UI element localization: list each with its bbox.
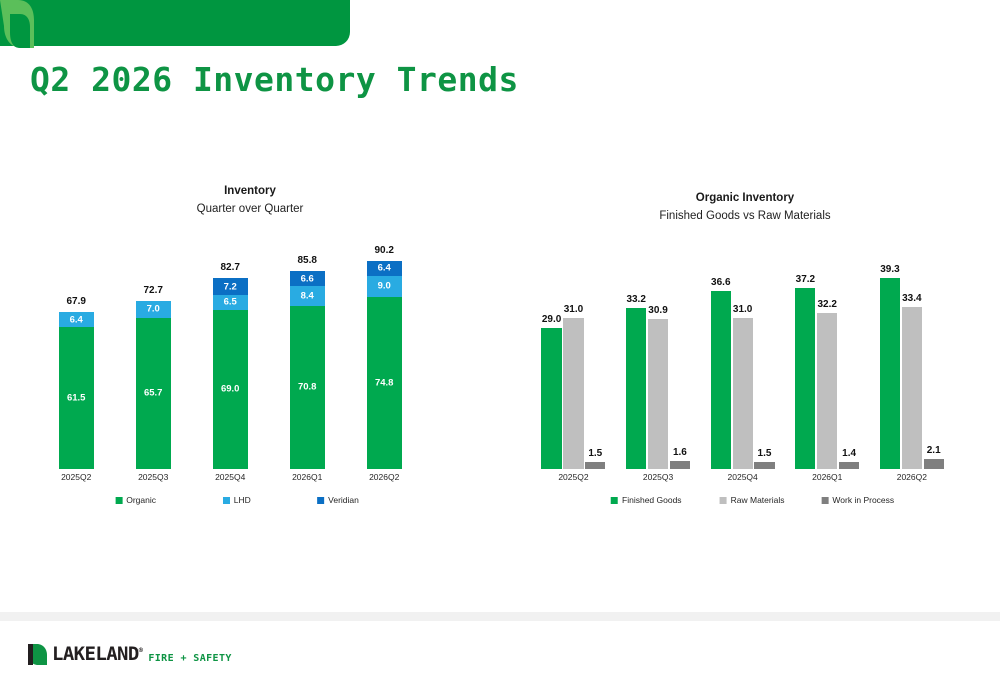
bar-value-label: 2.1 <box>916 445 952 456</box>
chart-right-subtitle: Finished Goods vs Raw Materials <box>510 210 980 222</box>
stacked-bar-2025Q3[interactable]: 7.065.772.7 <box>136 301 171 469</box>
bar-value-label: 30.9 <box>640 305 676 316</box>
legend-swatch-icon <box>317 497 324 504</box>
chart-left-subtitle: Quarter over Quarter <box>30 203 470 215</box>
bar-segment-organic[interactable]: 74.8 <box>367 297 402 469</box>
bar-segment-value: 7.0 <box>136 304 171 315</box>
axis-label-2025Q4: 2025Q4 <box>215 472 245 482</box>
chart-organic-inventory: Organic Inventory Finished Goods vs Raw … <box>510 192 980 527</box>
lakeland-leaf-icon <box>28 644 47 665</box>
bar-total-label: 67.9 <box>59 296 94 307</box>
lakeland-wordmark: LAKELAND® <box>52 645 142 664</box>
slide-canvas: Q2 2026 Inventory Trends Inventory Quart… <box>0 0 1000 685</box>
bar-segment-veridian[interactable]: 6.4 <box>367 261 402 276</box>
bar-value-label: 36.6 <box>703 277 739 288</box>
bar-total-label: 90.2 <box>367 245 402 256</box>
legend-swatch-icon <box>720 497 727 504</box>
bar-segment-veridian[interactable]: 7.2 <box>213 278 248 295</box>
legend-item-lhd[interactable]: LHD <box>223 495 251 505</box>
chart-right-title: Organic Inventory <box>510 192 980 204</box>
bar-value-label: 1.6 <box>662 447 698 458</box>
bar-segment-value: 65.7 <box>136 388 171 399</box>
legend-item-finished-goods[interactable]: Finished Goods <box>611 495 682 505</box>
bar-finished-goods-2026Q1[interactable]: 37.2 <box>795 288 815 469</box>
bar-segment-value: 6.5 <box>213 297 248 308</box>
legend-label: Veridian <box>328 495 359 505</box>
legend-label: Finished Goods <box>622 495 682 505</box>
axis-label-2025Q2: 2025Q2 <box>558 472 588 482</box>
bar-value-label: 31.0 <box>725 304 761 315</box>
axis-label-2026Q2: 2026Q2 <box>897 472 927 482</box>
bar-work-in-process-2026Q2[interactable]: 2.1 <box>924 459 944 469</box>
bar-finished-goods-2025Q2[interactable]: 29.0 <box>541 328 561 469</box>
stacked-bar-2025Q2[interactable]: 6.461.567.9 <box>59 312 94 469</box>
bar-value-label: 1.4 <box>831 448 867 459</box>
stacked-bar-2026Q1[interactable]: 6.68.470.885.8 <box>290 271 325 469</box>
bar-segment-value: 6.4 <box>367 263 402 274</box>
lakeland-name: LAKELAND <box>52 643 139 665</box>
bar-total-label: 72.7 <box>136 285 171 296</box>
bar-segment-lhd[interactable]: 9.0 <box>367 276 402 297</box>
legend-swatch-icon <box>821 497 828 504</box>
chart-left-title: Inventory <box>30 185 470 197</box>
legend-item-organic[interactable]: Organic <box>115 495 156 505</box>
legend-label: Work in Process <box>832 495 894 505</box>
chart-right-plot: 29.031.01.533.230.91.636.631.01.537.232.… <box>510 236 980 469</box>
bar-segment-value: 6.4 <box>59 314 94 325</box>
chart-right-axis-labels: 2025Q22025Q32025Q42026Q12026Q2 <box>510 469 980 487</box>
chart-left-axis-labels: 2025Q22025Q32025Q42026Q12026Q2 <box>30 469 470 487</box>
legend-label: Raw Materials <box>731 495 785 505</box>
bar-value-label: 31.0 <box>555 304 591 315</box>
bar-value-label: 32.2 <box>809 299 845 310</box>
axis-label-2025Q2: 2025Q2 <box>61 472 91 482</box>
bar-segment-value: 8.4 <box>290 291 325 302</box>
axis-label-2025Q3: 2025Q3 <box>138 472 168 482</box>
axis-label-2025Q3: 2025Q3 <box>643 472 673 482</box>
stacked-bar-2025Q4[interactable]: 7.26.569.082.7 <box>213 278 248 469</box>
bar-segment-value: 74.8 <box>367 377 402 388</box>
bar-segment-lhd[interactable]: 6.4 <box>59 312 94 327</box>
bar-finished-goods-2026Q2[interactable]: 39.3 <box>880 278 900 469</box>
bar-segment-organic[interactable]: 65.7 <box>136 318 171 470</box>
bar-segment-value: 7.2 <box>213 281 248 292</box>
lakeland-subbrand: FIRE + SAFETY <box>148 654 231 665</box>
bar-segment-organic[interactable]: 61.5 <box>59 327 94 469</box>
slide-footer: LAKELAND® FIRE + SAFETY Protect Your Peo… <box>0 621 1000 685</box>
legend-label: LHD <box>234 495 251 505</box>
bar-raw-materials-2026Q1[interactable]: 32.2 <box>817 313 837 469</box>
bar-work-in-process-2025Q2[interactable]: 1.5 <box>585 462 605 469</box>
bar-work-in-process-2026Q1[interactable]: 1.4 <box>839 462 859 469</box>
axis-label-2025Q4: 2025Q4 <box>728 472 758 482</box>
header-accent-bar <box>0 0 350 46</box>
bar-value-label: 33.2 <box>618 294 654 305</box>
bar-segment-value: 9.0 <box>367 281 402 292</box>
bar-total-label: 85.8 <box>290 255 325 266</box>
bar-value-label: 33.4 <box>894 293 930 304</box>
bar-finished-goods-2025Q4[interactable]: 36.6 <box>711 291 731 469</box>
bar-segment-value: 70.8 <box>290 382 325 393</box>
bar-finished-goods-2025Q3[interactable]: 33.2 <box>626 308 646 469</box>
bar-total-label: 82.7 <box>213 262 248 273</box>
chart-right-legend: Finished GoodsRaw MaterialsWork in Proce… <box>510 495 980 513</box>
bar-segment-value: 61.5 <box>59 393 94 404</box>
bar-raw-materials-2025Q2[interactable]: 31.0 <box>563 318 583 469</box>
bar-work-in-process-2025Q3[interactable]: 1.6 <box>670 461 690 469</box>
footer-divider <box>0 612 1000 621</box>
bar-value-label: 1.5 <box>577 448 613 459</box>
lakeland-logo: LAKELAND® FIRE + SAFETY <box>28 644 232 665</box>
legend-swatch-icon <box>611 497 618 504</box>
leaf-logo-icon <box>0 0 48 48</box>
legend-item-raw-materials[interactable]: Raw Materials <box>720 495 785 505</box>
axis-label-2026Q1: 2026Q1 <box>812 472 842 482</box>
legend-label: Organic <box>126 495 156 505</box>
stacked-bar-2026Q2[interactable]: 6.49.074.890.2 <box>367 261 402 469</box>
bar-work-in-process-2025Q4[interactable]: 1.5 <box>754 462 774 469</box>
legend-item-veridian[interactable]: Veridian <box>317 495 359 505</box>
bar-segment-lhd[interactable]: 8.4 <box>290 286 325 305</box>
bar-segment-organic[interactable]: 69.0 <box>213 310 248 469</box>
legend-swatch-icon <box>115 497 122 504</box>
bar-segment-lhd[interactable]: 7.0 <box>136 301 171 317</box>
legend-item-work-in-process[interactable]: Work in Process <box>821 495 894 505</box>
bar-segment-lhd[interactable]: 6.5 <box>213 295 248 310</box>
bar-raw-materials-2025Q4[interactable]: 31.0 <box>733 318 753 469</box>
chart-left-legend: OrganicLHDVeridian <box>30 495 470 513</box>
registered-mark: ® <box>139 647 143 655</box>
bar-value-label: 37.2 <box>787 274 823 285</box>
legend-swatch-icon <box>223 497 230 504</box>
axis-label-2026Q1: 2026Q1 <box>292 472 322 482</box>
bar-segment-value: 69.0 <box>213 384 248 395</box>
bar-segment-organic[interactable]: 70.8 <box>290 306 325 469</box>
bar-segment-veridian[interactable]: 6.6 <box>290 271 325 286</box>
page-title: Q2 2026 Inventory Trends <box>30 60 519 99</box>
chart-left-plot: 6.461.567.97.065.772.77.26.569.082.76.68… <box>30 229 470 469</box>
bar-value-label: 39.3 <box>872 264 908 275</box>
axis-label-2026Q2: 2026Q2 <box>369 472 399 482</box>
bar-value-label: 1.5 <box>746 448 782 459</box>
chart-inventory-qoq: Inventory Quarter over Quarter 6.461.567… <box>30 185 470 520</box>
bar-segment-value: 6.6 <box>290 273 325 284</box>
